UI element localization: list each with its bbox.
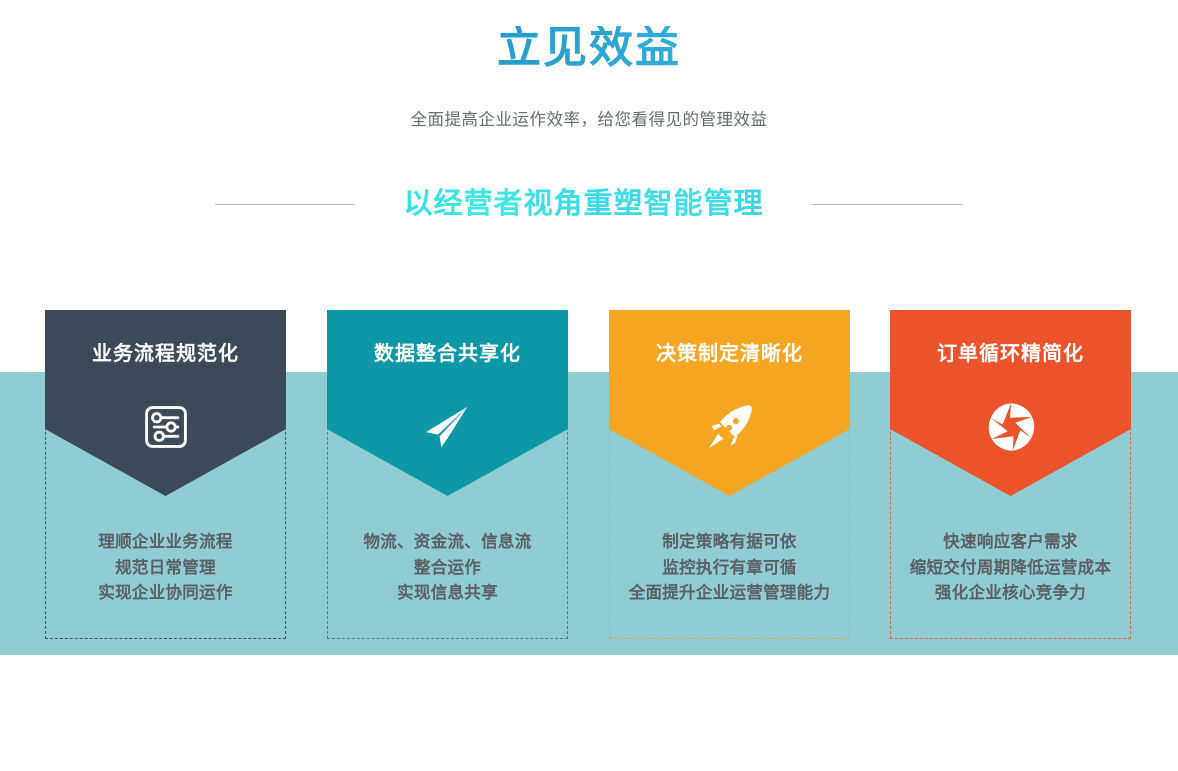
sliders-icon: [139, 400, 193, 454]
card-description-line: 整合运作: [313, 556, 582, 582]
card-description-line: 缩短交付周期降低运营成本: [876, 556, 1145, 582]
divider-line-right: [812, 204, 963, 205]
card-description-line: 实现企业协同运作: [31, 581, 300, 607]
page-header: 立见效益 全面提高企业运作效率，给您看得见的管理效益: [0, 0, 1178, 130]
page-title: 立见效益: [0, 26, 1178, 70]
card-description-line: 实现信息共享: [313, 581, 582, 607]
card-description-line: 全面提升企业运营管理能力: [595, 581, 864, 607]
paper-plane-icon: [421, 400, 475, 454]
feature-card-data-integration[interactable]: 数据整合共享化 物流、资金流、信息流 整合运作 实现信息共享: [327, 310, 568, 639]
aperture-icon: [984, 400, 1038, 454]
card-description: 物流、资金流、信息流 整合运作 实现信息共享: [313, 530, 582, 607]
card-title: 决策制定清晰化: [609, 337, 850, 366]
section-heading: 以经营者视角重塑智能管理: [403, 186, 763, 224]
card-description: 制定策略有据可依 监控执行有章可循 全面提升企业运营管理能力: [595, 530, 864, 607]
card-description-line: 规范日常管理: [31, 556, 300, 582]
card-title: 订单循环精简化: [890, 337, 1131, 366]
feature-card-decision-making[interactable]: 决策制定清晰化 制定策略有据可依 监控执行有章可循 全面提升企业运营管理能力: [609, 310, 850, 639]
card-description-line: 理顺企业业务流程: [31, 530, 300, 556]
page-subtitle: 全面提高企业运作效率，给您看得见的管理效益: [0, 106, 1178, 130]
card-title: 数据整合共享化: [327, 337, 568, 366]
card-description-line: 制定策略有据可依: [595, 530, 864, 556]
card-description-line: 快速响应客户需求: [876, 530, 1145, 556]
card-description-line: 物流、资金流、信息流: [313, 530, 582, 556]
section-heading-row: 以经营者视角重塑智能管理: [0, 186, 1178, 224]
card-description: 快速响应客户需求 缩短交付周期降低运营成本 强化企业核心竞争力: [876, 530, 1145, 607]
divider-line-left: [215, 204, 355, 205]
rocket-icon: [703, 400, 757, 454]
card-title: 业务流程规范化: [45, 337, 286, 366]
card-description-line: 强化企业核心竞争力: [876, 581, 1145, 607]
feature-card-business-process[interactable]: 业务流程规范化 理顺企业业务流程 规范日常管理 实现企业协同运作: [45, 310, 286, 639]
feature-card-order-cycle[interactable]: 订单循环精简化 快速响应客户需求 缩短交付周期降低运营成本 强化企业核心竞争力: [890, 310, 1131, 639]
card-description-line: 监控执行有章可循: [595, 556, 864, 582]
card-description: 理顺企业业务流程 规范日常管理 实现企业协同运作: [31, 530, 300, 607]
